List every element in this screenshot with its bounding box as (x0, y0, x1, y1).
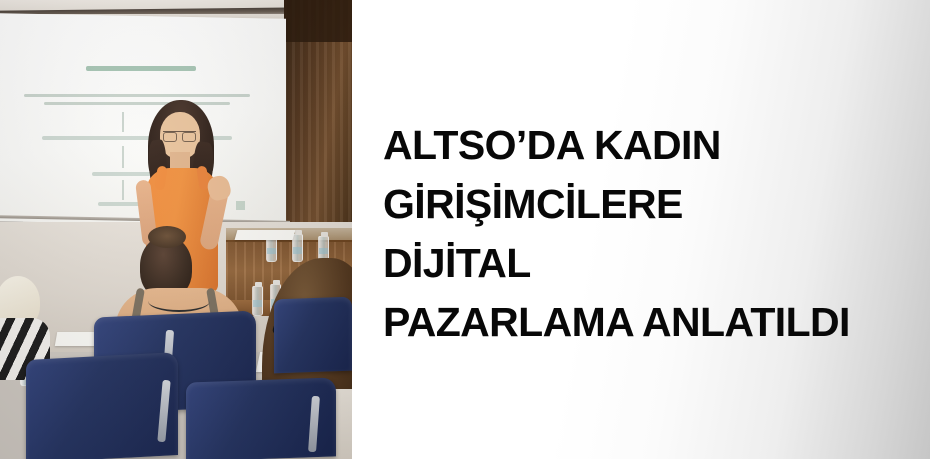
headline-line-1: ALTSO’DA KADIN (383, 116, 850, 175)
podium-paper (235, 230, 296, 240)
slide-text-line-2 (44, 102, 230, 105)
slide-logo (236, 201, 272, 210)
slide-arrow-2 (122, 146, 124, 168)
slide-arrow-1 (122, 112, 124, 132)
article-photo[interactable] (0, 0, 352, 459)
speaker-glasses (163, 131, 196, 140)
audience-necklace (148, 290, 210, 312)
slide-arrow-3 (122, 180, 124, 200)
headline-panel: ALTSO’DA KADIN GİRİŞİMCİLERE DİJİTAL PAZ… (352, 0, 930, 459)
wood-wall-shadow (284, 0, 352, 42)
headline-line-3: DİJİTAL (383, 234, 850, 293)
water-bottle (252, 286, 263, 316)
slide-title-line (86, 66, 196, 71)
news-thumbnail-card: ALTSO’DA KADIN GİRİŞİMCİLERE DİJİTAL PAZ… (0, 0, 930, 459)
article-headline: ALTSO’DA KADIN GİRİŞİMCİLERE DİJİTAL PAZ… (383, 116, 860, 352)
slide-text-line-1 (24, 94, 250, 97)
headline-line-4: PAZARLAMA ANLATILDI (383, 293, 850, 352)
audience-member-hair-bun (148, 226, 186, 248)
water-bottle (292, 234, 303, 262)
headline-line-2: GİRİŞİMCİLERE (383, 175, 850, 234)
auditorium-chair (274, 297, 352, 374)
auditorium-chair (26, 352, 178, 459)
